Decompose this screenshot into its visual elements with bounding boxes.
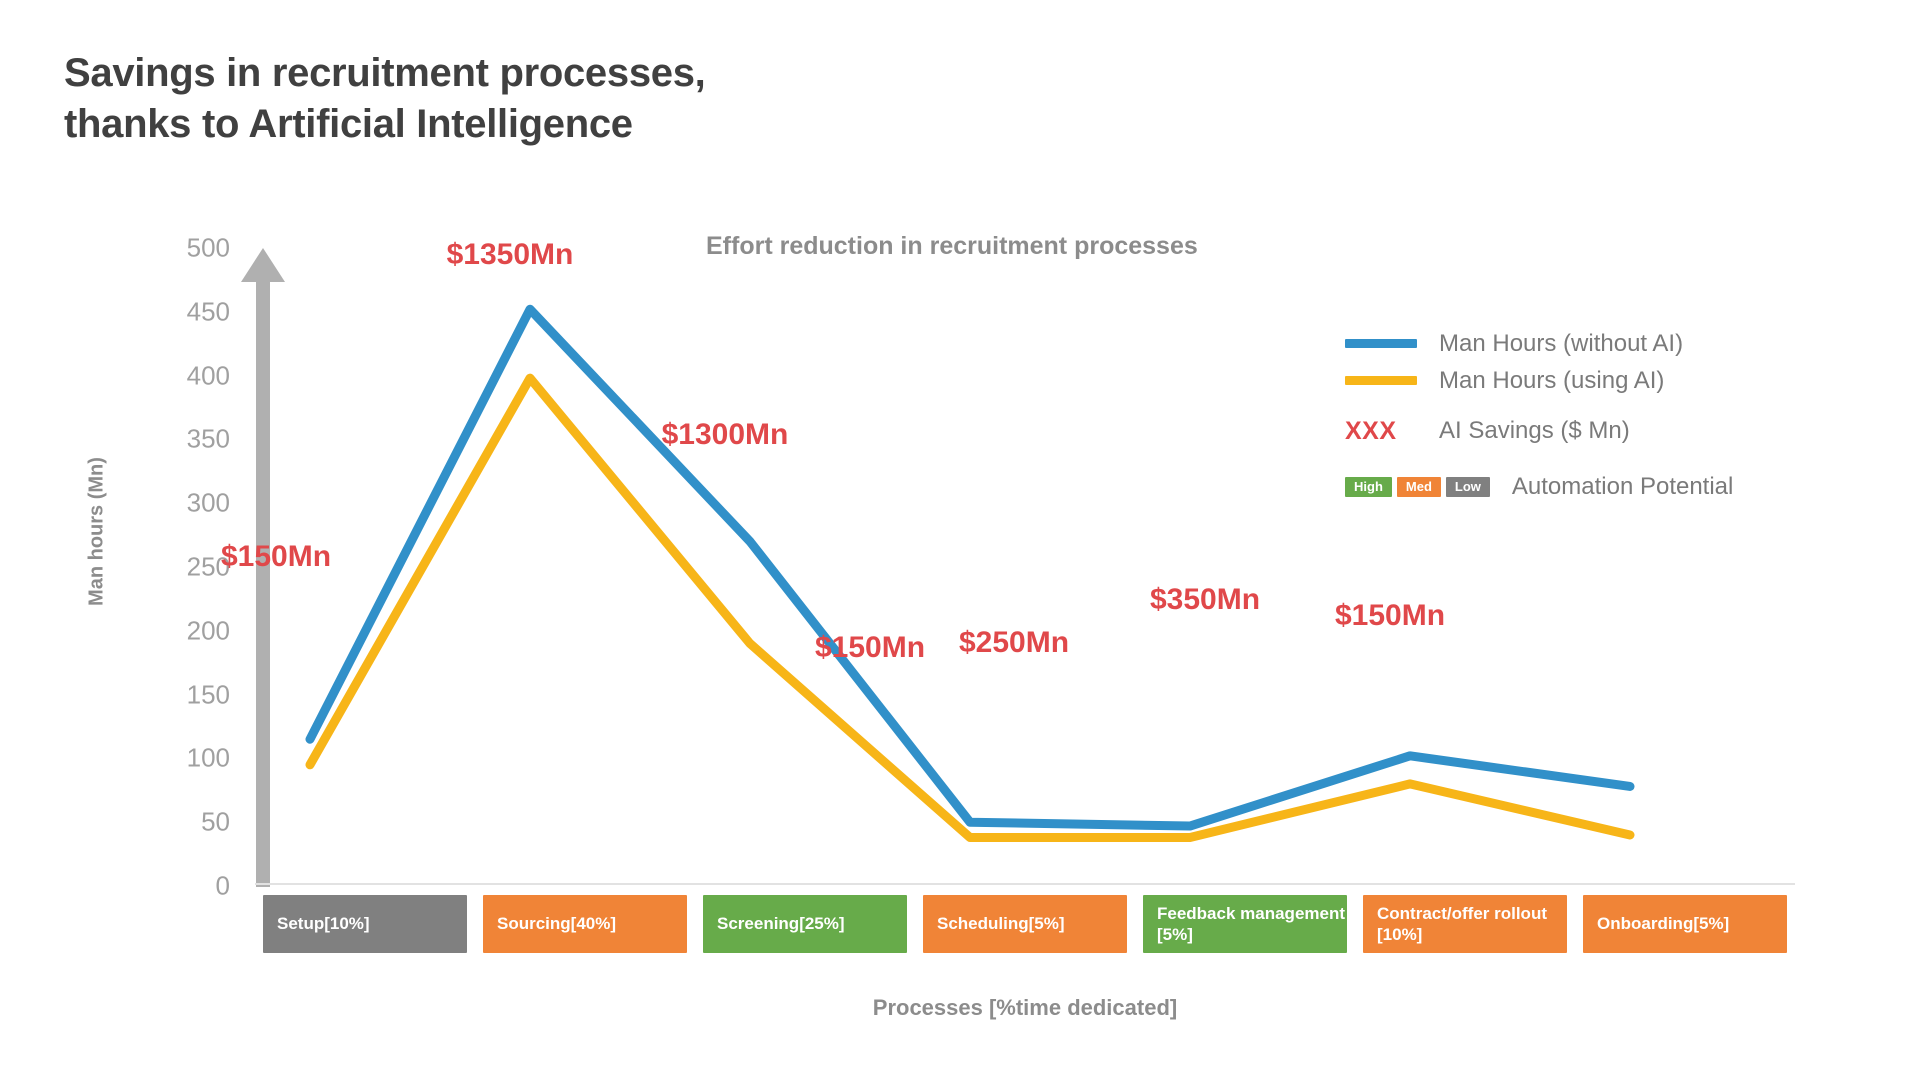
x-axis-category-box[interactable]: Onboarding[5%]	[1583, 895, 1787, 953]
legend-label-automation: Automation Potential	[1512, 473, 1733, 501]
x-axis-category-label: Sourcing[40%]	[497, 913, 616, 934]
chart-legend: Man Hours (without AI) Man Hours (using …	[1345, 325, 1815, 507]
automation-badge-low: Low	[1446, 477, 1490, 497]
x-axis-category-box[interactable]: Sourcing[40%]	[483, 895, 687, 953]
y-axis-title: Man hours (Mn)	[86, 402, 109, 662]
x-axis-categories: Setup[10%]Sourcing[40%]Screening[25%]Sch…	[255, 895, 1795, 995]
automation-badge-med: Med	[1397, 477, 1441, 497]
y-axis-tick-label: 200	[187, 615, 230, 646]
legend-label-without-ai: Man Hours (without AI)	[1439, 330, 1683, 358]
savings-annotation: $350Mn	[1150, 583, 1260, 617]
y-axis-ticks: 500450400350300250200150100500	[140, 248, 230, 886]
legend-item-ai-savings: XXX AI Savings ($ Mn)	[1345, 411, 1815, 451]
x-axis-category-box[interactable]: Contract/offer rollout [10%]	[1363, 895, 1567, 953]
y-axis-tick-label: 400	[187, 360, 230, 391]
x-axis-category-label: Scheduling[5%]	[937, 913, 1065, 934]
y-axis-tick-label: 100	[187, 743, 230, 774]
x-axis-category-label: Feedback management [5%]	[1157, 903, 1347, 946]
x-axis-category-label: Contract/offer rollout [10%]	[1377, 903, 1567, 946]
legend-item-using-ai[interactable]: Man Hours (using AI)	[1345, 362, 1815, 399]
y-axis-tick-label: 450	[187, 296, 230, 327]
legend-label-ai-savings: AI Savings ($ Mn)	[1439, 417, 1630, 445]
savings-annotation: $150Mn	[1335, 599, 1445, 633]
savings-annotation: $1300Mn	[662, 418, 789, 452]
savings-annotation: $150Mn	[221, 540, 331, 574]
x-axis-category-box[interactable]: Feedback management [5%]	[1143, 895, 1347, 953]
x-axis-category-label: Setup[10%]	[277, 913, 370, 934]
legend-savings-marker: XXX	[1345, 417, 1417, 446]
automation-badge-group: HighMedLow	[1345, 477, 1490, 497]
legend-label-using-ai: Man Hours (using AI)	[1439, 367, 1664, 395]
legend-item-without-ai[interactable]: Man Hours (without AI)	[1345, 325, 1815, 362]
automation-badge-high: High	[1345, 477, 1392, 497]
y-axis-tick-label: 500	[187, 233, 230, 264]
chart-page: Savings in recruitment processes, thanks…	[0, 0, 1920, 1080]
x-axis-category-box[interactable]: Screening[25%]	[703, 895, 907, 953]
legend-swatch-blue-line	[1345, 339, 1417, 348]
x-axis-category-box[interactable]: Scheduling[5%]	[923, 895, 1127, 953]
legend-item-automation-potential: HighMedLow Automation Potential	[1345, 467, 1815, 507]
y-axis-tick-label: 50	[201, 807, 230, 838]
x-axis-category-label: Screening[25%]	[717, 913, 845, 934]
x-axis-category-box[interactable]: Setup[10%]	[263, 895, 467, 953]
y-axis-tick-label: 300	[187, 488, 230, 519]
savings-annotation: $1350Mn	[447, 238, 574, 272]
x-axis-title: Processes [%time dedicated]	[255, 995, 1795, 1021]
y-axis-tick-label: 0	[216, 871, 230, 902]
y-axis-tick-label: 350	[187, 424, 230, 455]
legend-swatch-yellow-line	[1345, 376, 1417, 385]
savings-annotation: $150Mn	[815, 631, 925, 665]
y-axis-tick-label: 150	[187, 679, 230, 710]
savings-annotation: $250Mn	[959, 626, 1069, 660]
x-axis-category-label: Onboarding[5%]	[1597, 913, 1729, 934]
page-title: Savings in recruitment processes, thanks…	[64, 48, 705, 150]
